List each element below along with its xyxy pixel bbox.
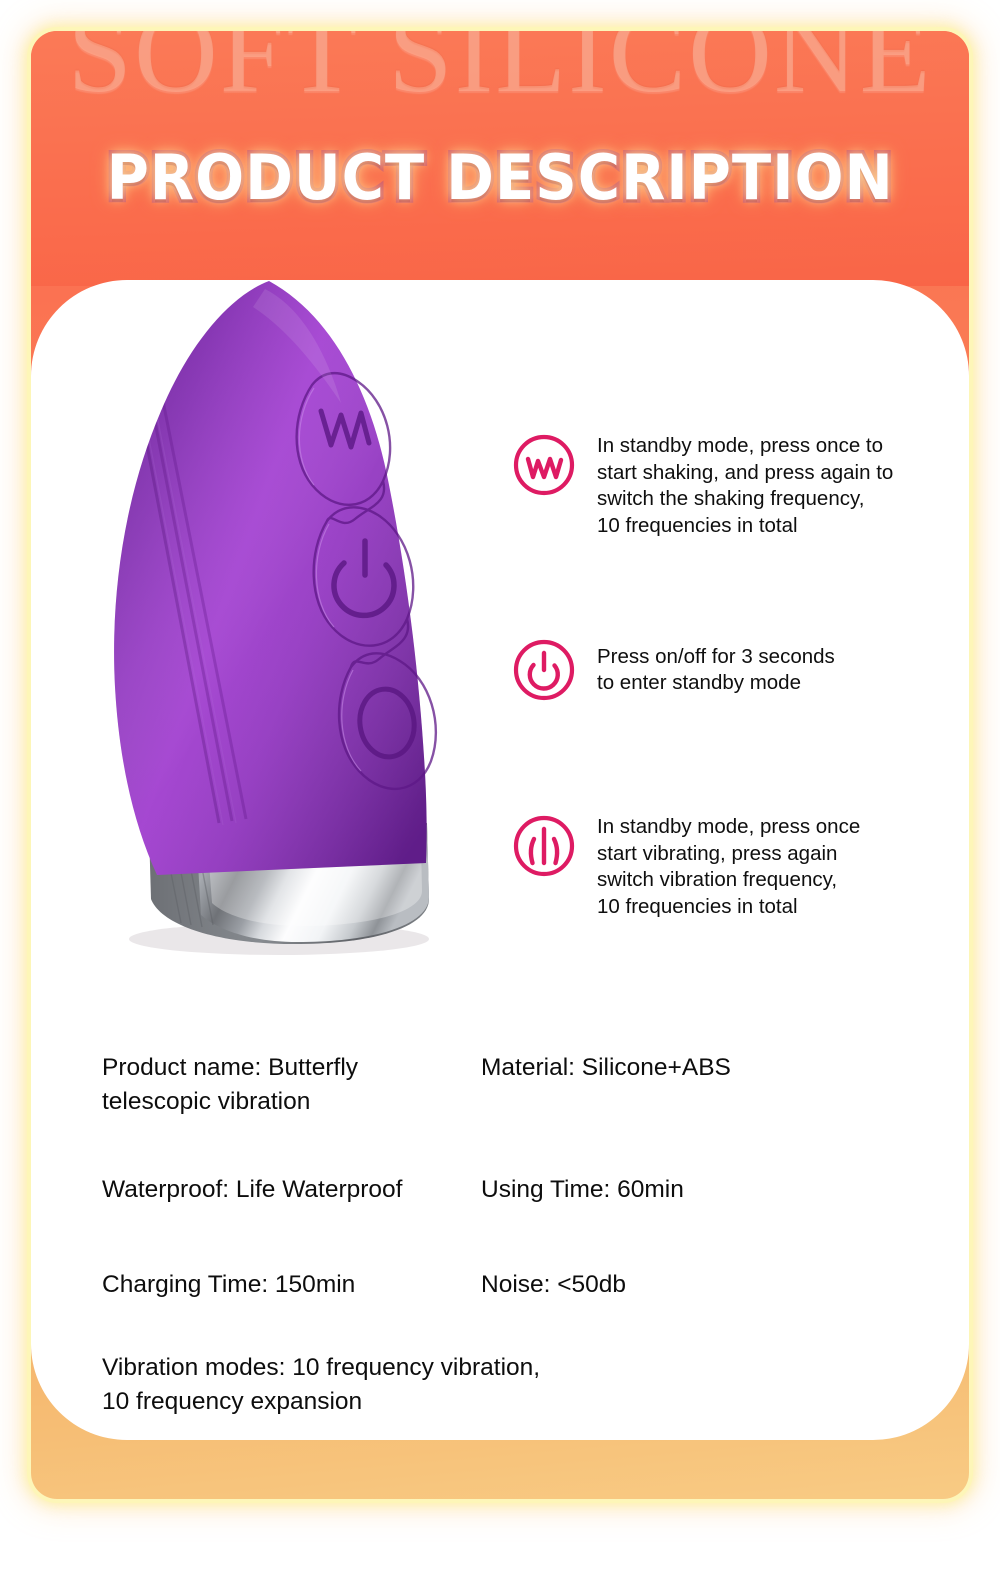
spec-product-name: Product name: Butterfly telescopic vibra… — [31, 1051, 451, 1119]
spec-waterproof: Waterproof: Life Waterproof — [31, 1173, 451, 1207]
feature-text: In standby mode, press once to start sha… — [597, 432, 893, 539]
wave-circle-icon — [511, 432, 577, 498]
feature-item-vibration: In standby mode, press once start vibrat… — [511, 813, 860, 920]
card-header: SOFT SILICONE PRODUCT DESCRIPTION — [31, 31, 969, 286]
spec-charging-time: Charging Time: 150min — [31, 1268, 451, 1302]
spec-noise: Noise: <50db — [451, 1268, 891, 1302]
feature-text: In standby mode, press once start vibrat… — [597, 813, 860, 920]
spec-row: Charging Time: 150min Noise: <50db — [31, 1268, 969, 1302]
power-circle-icon — [511, 637, 577, 703]
spec-row: Waterproof: Life Waterproof Using Time: … — [31, 1173, 969, 1207]
page-title-wrapper: PRODUCT DESCRIPTION — [31, 141, 969, 214]
feature-item-power: Press on/off for 3 seconds to enter stan… — [511, 637, 835, 703]
product-description-card: SOFT SILICONE PRODUCT DESCRIPTION — [31, 31, 969, 1499]
vibration-circle-icon — [511, 813, 577, 879]
feature-item-shaking: In standby mode, press once to start sha… — [511, 432, 893, 539]
spec-vibration-modes: Vibration modes: 10 frequency vibration,… — [31, 1351, 962, 1419]
spec-row: Product name: Butterfly telescopic vibra… — [31, 1051, 969, 1119]
spec-row: Vibration modes: 10 frequency vibration,… — [31, 1351, 969, 1419]
watermark-text: SOFT SILICONE — [31, 31, 969, 120]
page-title: PRODUCT DESCRIPTION — [106, 141, 893, 214]
spec-using-time: Using Time: 60min — [451, 1173, 891, 1207]
spec-material: Material: Silicone+ABS — [451, 1051, 891, 1119]
feature-text: Press on/off for 3 seconds to enter stan… — [597, 644, 835, 697]
